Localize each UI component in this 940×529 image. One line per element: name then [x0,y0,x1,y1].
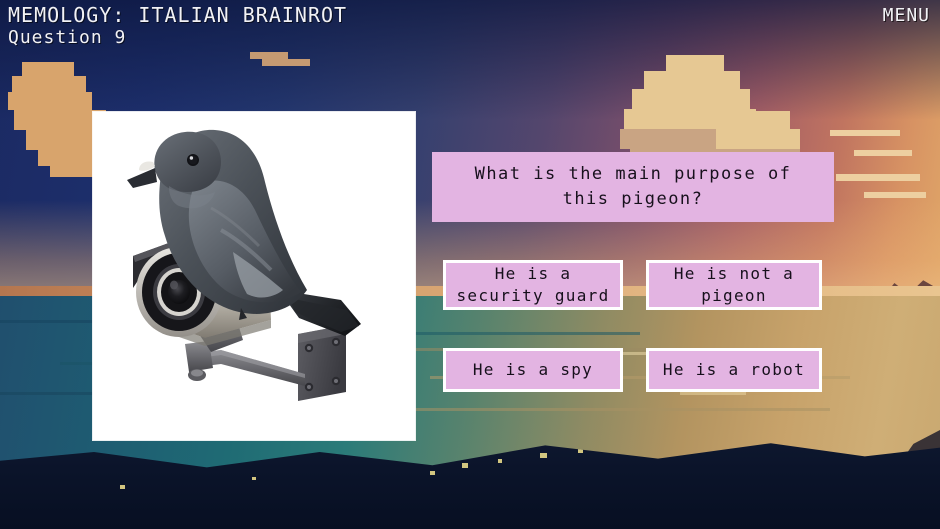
answer-option-1[interactable]: He is a security guard [443,260,623,310]
meme-image-card [93,112,415,440]
pigeon-on-security-camera-image [93,112,415,440]
page-title: MEMOLOGY: ITALIAN BRAINROT [8,3,347,27]
answer-option-3[interactable]: He is a spy [443,348,623,392]
question-panel: What is the main purpose of this pigeon? [432,152,834,222]
question-text: What is the main purpose of this pigeon? [448,162,818,213]
camera-wall-mount [298,325,346,401]
menu-button[interactable]: MENU [883,5,930,26]
answer-option-2[interactable]: He is not a pigeon [646,260,822,310]
answer-option-4[interactable]: He is a robot [646,348,822,392]
question-counter: Question 9 [8,27,126,48]
game-screen: MEMOLOGY: ITALIAN BRAINROT Question 9 ME… [0,0,940,529]
cloud-wisps-right [830,120,940,210]
cloud-small-left [250,48,310,70]
